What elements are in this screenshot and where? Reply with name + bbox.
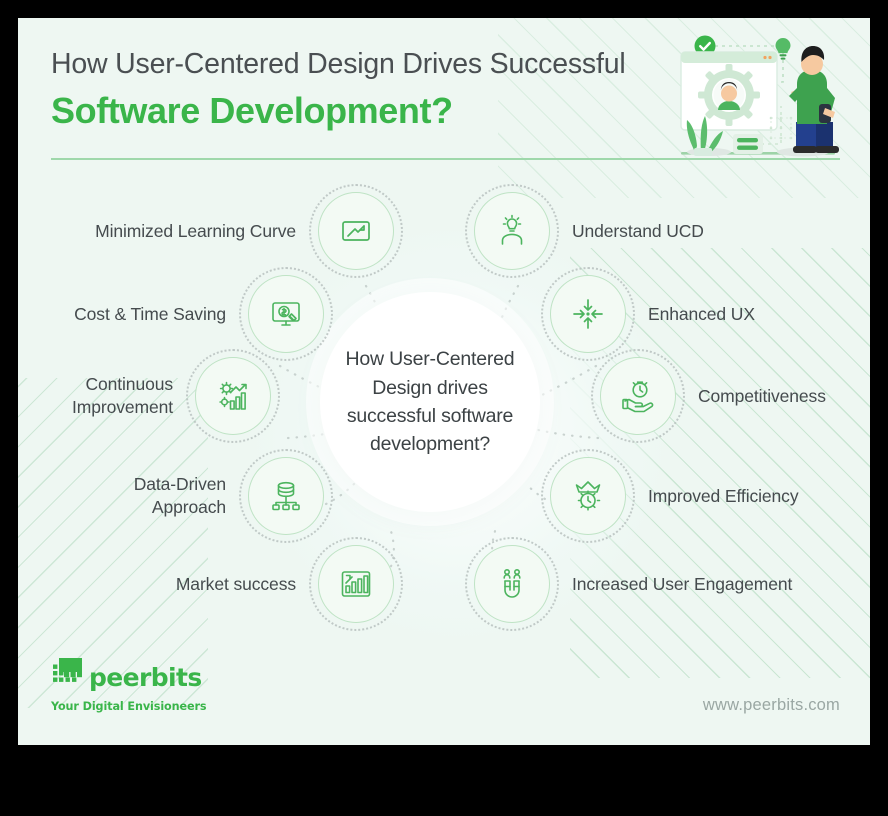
node-minimized-learning-curve[interactable]: Minimized Learning Curve xyxy=(32,193,394,269)
node-label: Improved Efficiency xyxy=(626,485,798,508)
node-market-success[interactable]: Market success xyxy=(32,546,394,622)
person-illustration xyxy=(789,46,839,153)
node-label: Minimized Learning Curve xyxy=(95,220,318,243)
node-cost-time-saving[interactable]: Cost & Time Saving xyxy=(32,276,324,352)
node-label: Data-Driven Approach xyxy=(134,473,248,519)
node-label: Increased User Engagement xyxy=(550,573,792,596)
peerbits-logo[interactable]: peerbits xyxy=(51,658,202,689)
lightbulb-icon xyxy=(776,38,791,60)
node-continuous-improvement[interactable]: Continuous Improvement xyxy=(32,358,271,434)
node-label: Cost & Time Saving xyxy=(74,303,248,326)
user-lightbulb-icon xyxy=(474,193,550,269)
node-label: Market success xyxy=(176,573,318,596)
node-enhanced-ux[interactable]: Enhanced UX xyxy=(550,276,755,352)
node-increased-user-engagement[interactable]: Increased User Engagement xyxy=(474,546,792,622)
screenshot-canvas: How User-Centered Design Drives Successf… xyxy=(0,0,888,816)
node-label: Continuous Improvement xyxy=(72,373,195,419)
gear-growth-chart-icon xyxy=(195,358,271,434)
peerbits-wordmark: peerbits xyxy=(89,666,202,689)
list-rows-icon xyxy=(733,134,763,154)
browser-window-card xyxy=(681,52,777,130)
center-bubble: How User-Centered Design drives successf… xyxy=(320,292,540,512)
magnet-users-icon xyxy=(474,546,550,622)
peerbits-tagline: Your Digital Envisioneers xyxy=(51,700,206,713)
database-network-icon xyxy=(248,458,324,534)
center-question: How User-Centered Design drives successf… xyxy=(340,345,520,459)
crown-gear-clock-icon xyxy=(550,458,626,534)
infographic-card: How User-Centered Design Drives Successf… xyxy=(18,18,870,745)
gear-avatar-icon xyxy=(698,64,760,126)
title-line-2: Software Development? xyxy=(51,88,691,135)
node-label: Enhanced UX xyxy=(626,303,755,326)
bar-chart-growth-icon xyxy=(318,546,394,622)
title-line-1: How User-Centered Design Drives Successf… xyxy=(51,46,691,82)
node-competitiveness[interactable]: Competitiveness xyxy=(600,358,826,434)
page-title: How User-Centered Design Drives Successf… xyxy=(51,46,691,135)
website-url[interactable]: www.peerbits.com xyxy=(703,696,840,715)
ucd-hero-illustration xyxy=(673,26,843,168)
converge-arrows-icon xyxy=(550,276,626,352)
node-data-driven-approach[interactable]: Data-Driven Approach xyxy=(32,458,324,534)
node-label: Competitiveness xyxy=(676,385,826,408)
node-label: Understand UCD xyxy=(550,220,704,243)
node-improved-efficiency[interactable]: Improved Efficiency xyxy=(550,458,798,534)
node-understand-ucd[interactable]: Understand UCD xyxy=(474,193,704,269)
presentation-chart-icon xyxy=(318,193,394,269)
hand-stopwatch-icon xyxy=(600,358,676,434)
peerbits-logo-mark xyxy=(51,658,82,689)
monitor-money-search-icon xyxy=(248,276,324,352)
